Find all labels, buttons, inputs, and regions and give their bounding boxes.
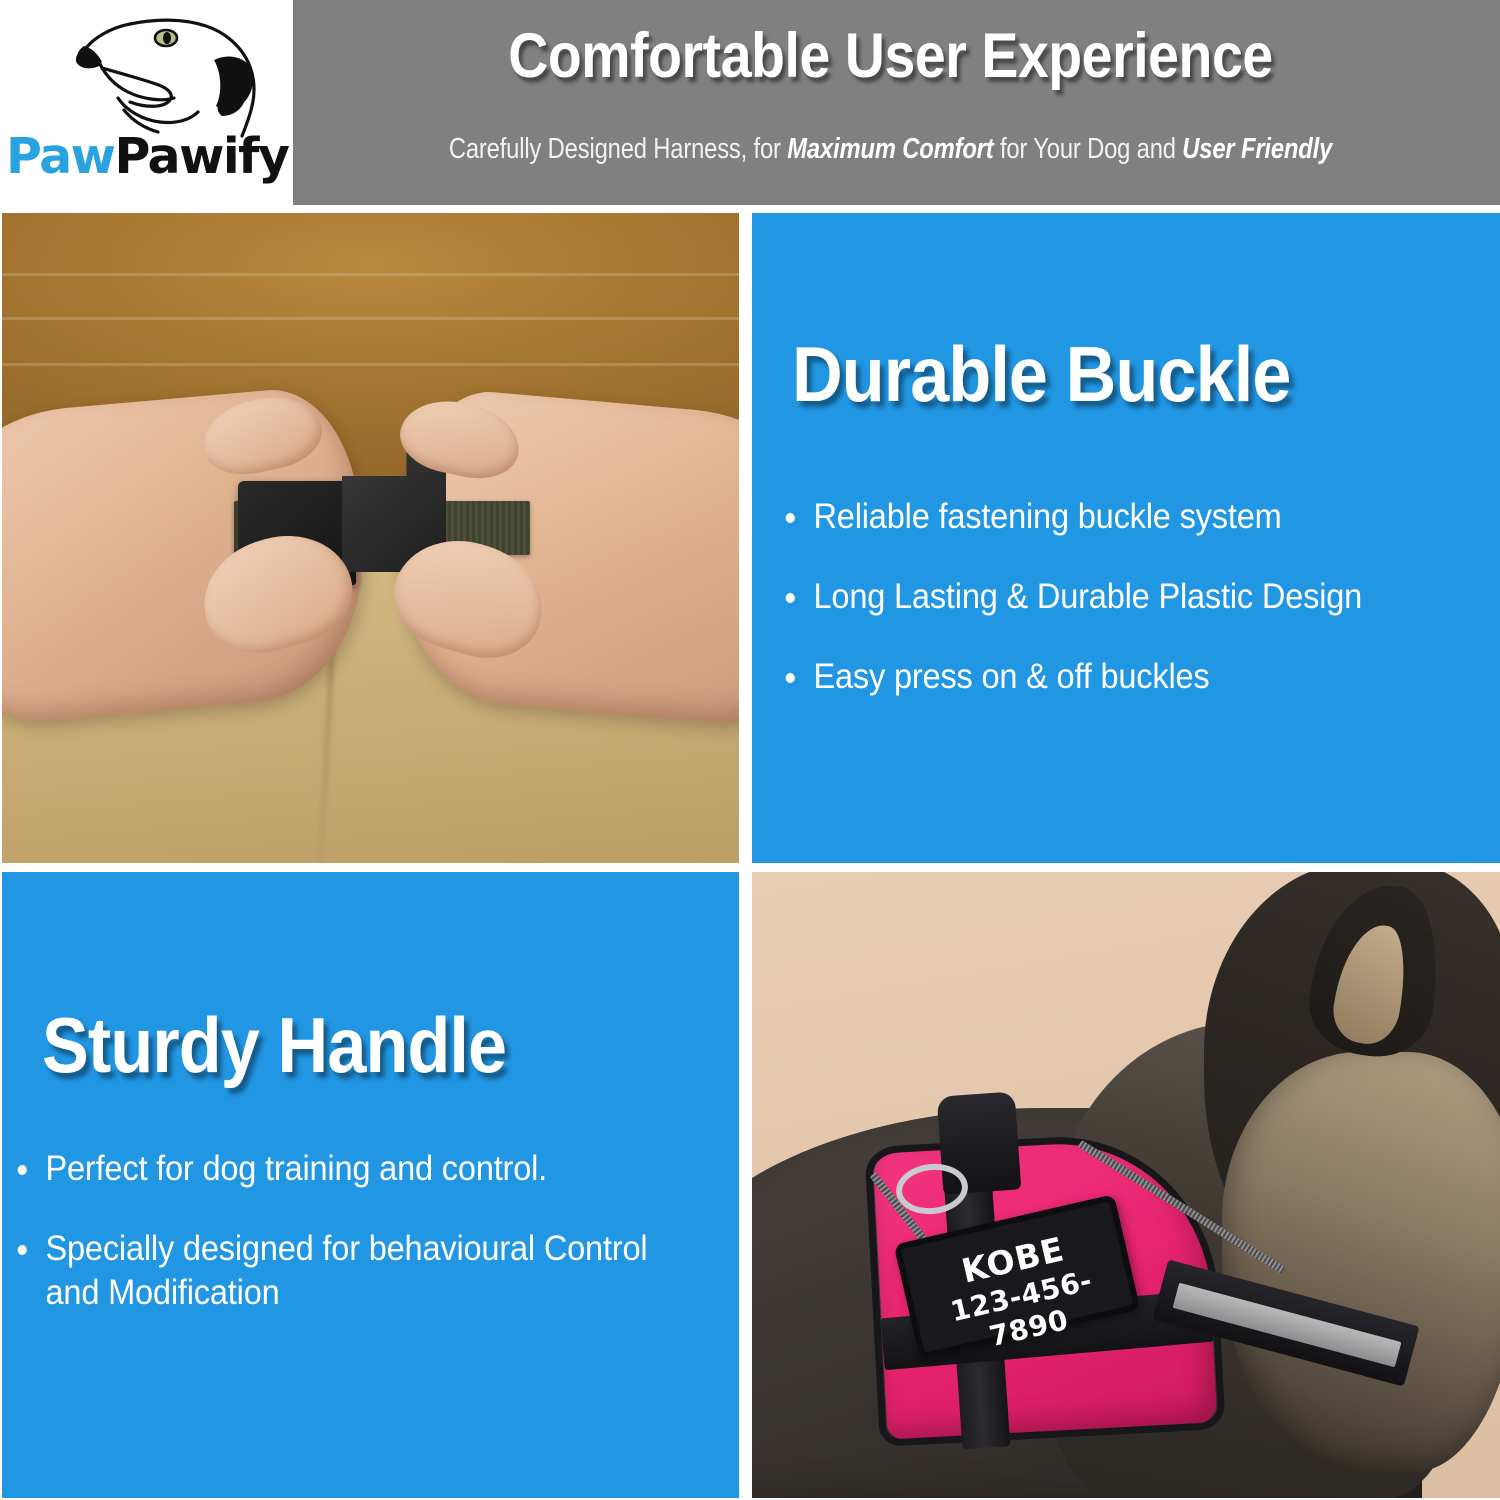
sturdy-handle-panel: Sturdy Handle Perfect for dog training a… <box>2 872 739 1498</box>
header-bar: PawPawify Comfortable User Experience Ca… <box>0 0 1500 205</box>
list-item: Perfect for dog training and control. <box>12 1147 691 1191</box>
durable-buckle-bullet-list: Reliable fastening buckle system Long La… <box>780 495 1431 735</box>
durable-buckle-title: Durable Buckle <box>792 329 1290 420</box>
brand-wordmark: PawPawify <box>6 128 291 185</box>
dog-head-logo-icon <box>58 2 288 142</box>
list-item: Reliable fastening buckle system <box>780 495 1431 539</box>
page-title: Comfortable User Experience <box>365 22 1417 90</box>
buckle-photo-panel <box>2 213 739 863</box>
list-item: Long Lasting & Durable Plastic Design <box>780 575 1431 619</box>
buckle-photo <box>2 213 739 863</box>
harness-photo: KOBE 123-456-7890 <box>752 872 1500 1498</box>
list-item: Easy press on & off buckles <box>780 655 1431 699</box>
subtitle-emphasis-1: Maximum Comfort <box>787 133 993 165</box>
subtitle-emphasis-2: User Friendly <box>1182 133 1332 165</box>
list-item: Specially designed for behavioural Contr… <box>12 1227 691 1315</box>
header-banner: Comfortable User Experience Carefully De… <box>293 0 1500 205</box>
durable-buckle-panel: Durable Buckle Reliable fastening buckle… <box>752 213 1500 863</box>
sturdy-handle-title: Sturdy Handle <box>42 1000 506 1091</box>
brand-name-main: Pawify <box>114 128 288 185</box>
brand-name-accent: Paw <box>6 128 114 185</box>
page-subtitle: Carefully Designed Harness, for Maximum … <box>401 133 1381 166</box>
subtitle-mid: for Your Dog and <box>994 133 1183 165</box>
brand-logo: PawPawify <box>0 0 293 205</box>
harness-photo-panel: KOBE 123-456-7890 <box>752 872 1500 1498</box>
subtitle-lead: Carefully Designed Harness, for <box>449 133 787 165</box>
sturdy-handle-bullet-list: Perfect for dog training and control. Sp… <box>12 1147 691 1351</box>
infographic-page: PawPawify Comfortable User Experience Ca… <box>0 0 1500 1500</box>
